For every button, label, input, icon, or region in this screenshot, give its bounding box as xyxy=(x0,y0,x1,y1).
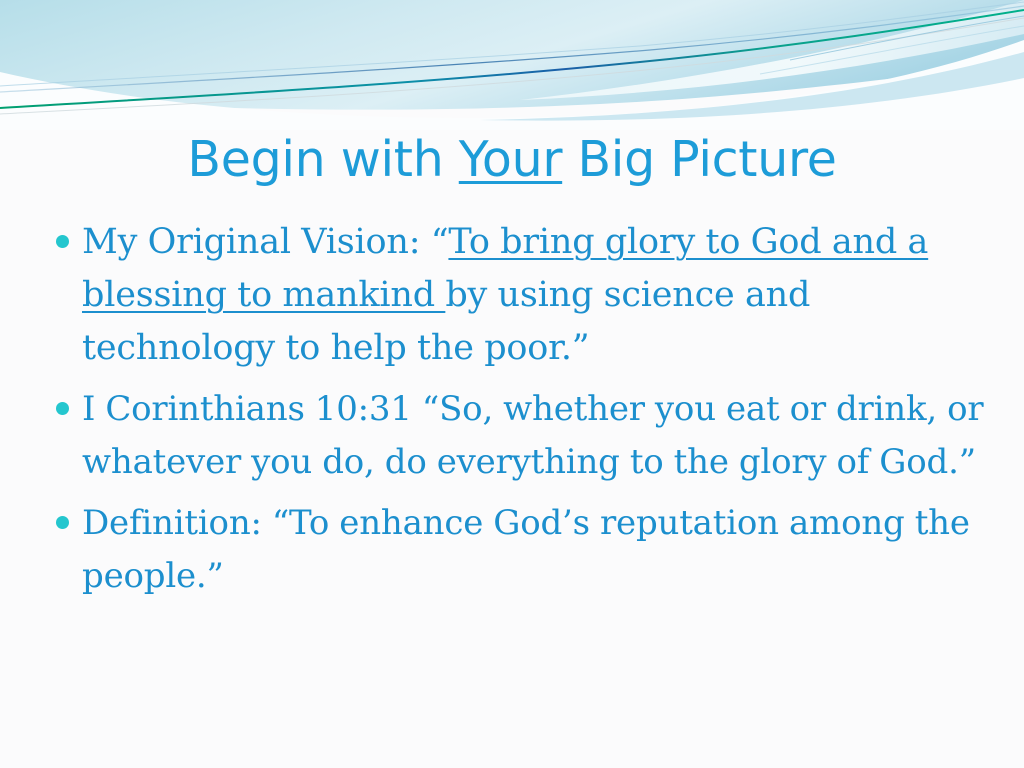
slide-body: My Original Vision: “To bring glory to G… xyxy=(56,216,984,605)
banner-grey-echo-line xyxy=(0,18,1024,114)
bullet-item-3: Definition: “To enhance God’s reputation… xyxy=(56,497,984,603)
bullet-1-seg-0: My Original Vision: “ xyxy=(82,222,448,262)
banner-thin-pale-line xyxy=(0,2,1024,86)
banner-green-curve xyxy=(0,10,1024,108)
bullet-item-2: I Corinthians 10:31 “So, whether you eat… xyxy=(56,383,984,489)
disc-bullet-icon xyxy=(56,383,82,415)
bullet-1-seg-1-underlined: To bring glory to God and xyxy=(448,222,907,262)
disc-bullet-icon xyxy=(56,497,82,529)
title-text-underlined: Your xyxy=(459,131,562,188)
slide-title: Begin with Your Big Picture xyxy=(0,131,1024,189)
slide: Begin with Your Big Picture My Original … xyxy=(0,0,1024,768)
banner-pale-ribbon xyxy=(520,0,1024,100)
banner-blue-tail xyxy=(480,52,1024,121)
bullet-text-1: My Original Vision: “To bring glory to G… xyxy=(82,216,984,375)
banner-blue-hairline xyxy=(0,6,1024,92)
title-text-before: Begin with xyxy=(187,131,458,188)
banner-white-swoosh xyxy=(0,40,1024,130)
bullet-item-1: My Original Vision: “To bring glory to G… xyxy=(56,216,984,375)
banner-corner-line-1 xyxy=(790,16,1024,60)
title-text-after: Big Picture xyxy=(562,131,836,188)
banner-corner-line-2 xyxy=(760,26,1024,74)
bullet-text-3: Definition: “To enhance God’s reputation… xyxy=(82,497,984,603)
decorative-wave-banner xyxy=(0,0,1024,130)
bullet-text-2: I Corinthians 10:31 “So, whether you eat… xyxy=(82,383,984,489)
disc-bullet-icon xyxy=(56,216,82,248)
banner-sky-band xyxy=(0,0,1024,110)
